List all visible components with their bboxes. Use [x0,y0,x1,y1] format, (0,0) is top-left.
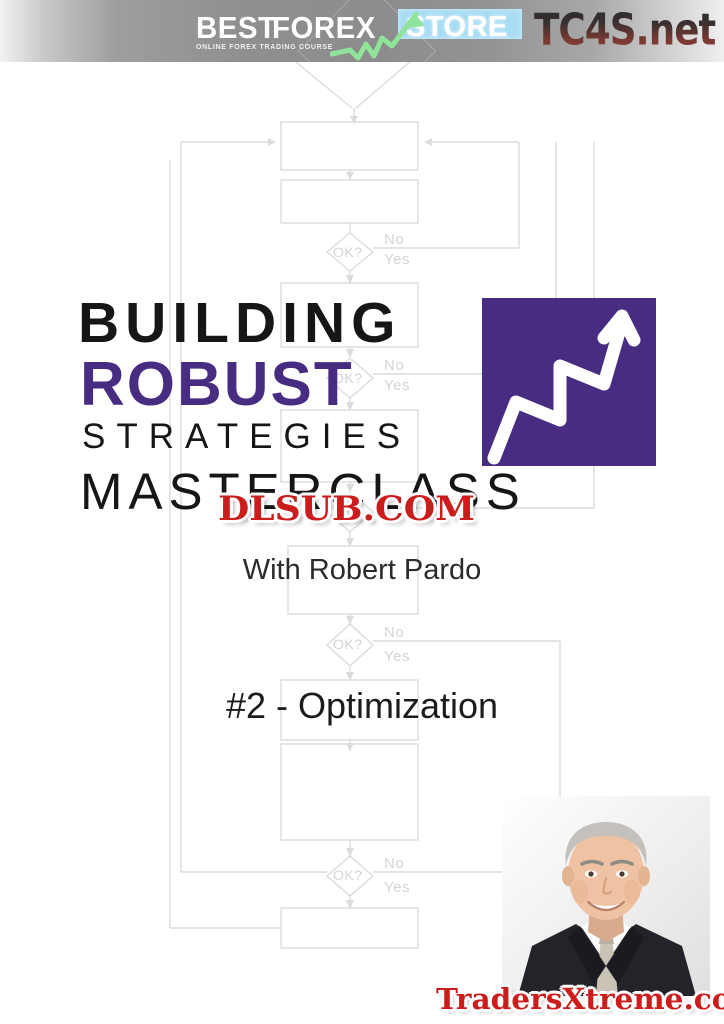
watermark-tradersxtreme: TradersXtreme.com [436,982,724,1016]
upward-zigzag-arrow-icon [482,298,656,466]
banner-inner: BEST FOREX STORE ONLINE FOREX TRADING CO… [0,0,724,62]
presenter-portrait-image [502,796,710,996]
tc4s-logo: TC4S.net [534,4,715,55]
banner-tagline: ONLINE FOREX TRADING COURSE [196,44,333,51]
brand-logo-square [482,298,656,466]
watermark-dlsub: DLSUB.COM [218,489,475,529]
site-banner: BEST FOREX STORE ONLINE FOREX TRADING CO… [0,0,724,62]
brand-word-best: BEST [196,12,276,43]
green-chart-line-icon [330,8,440,62]
presenter-photo [502,796,710,996]
